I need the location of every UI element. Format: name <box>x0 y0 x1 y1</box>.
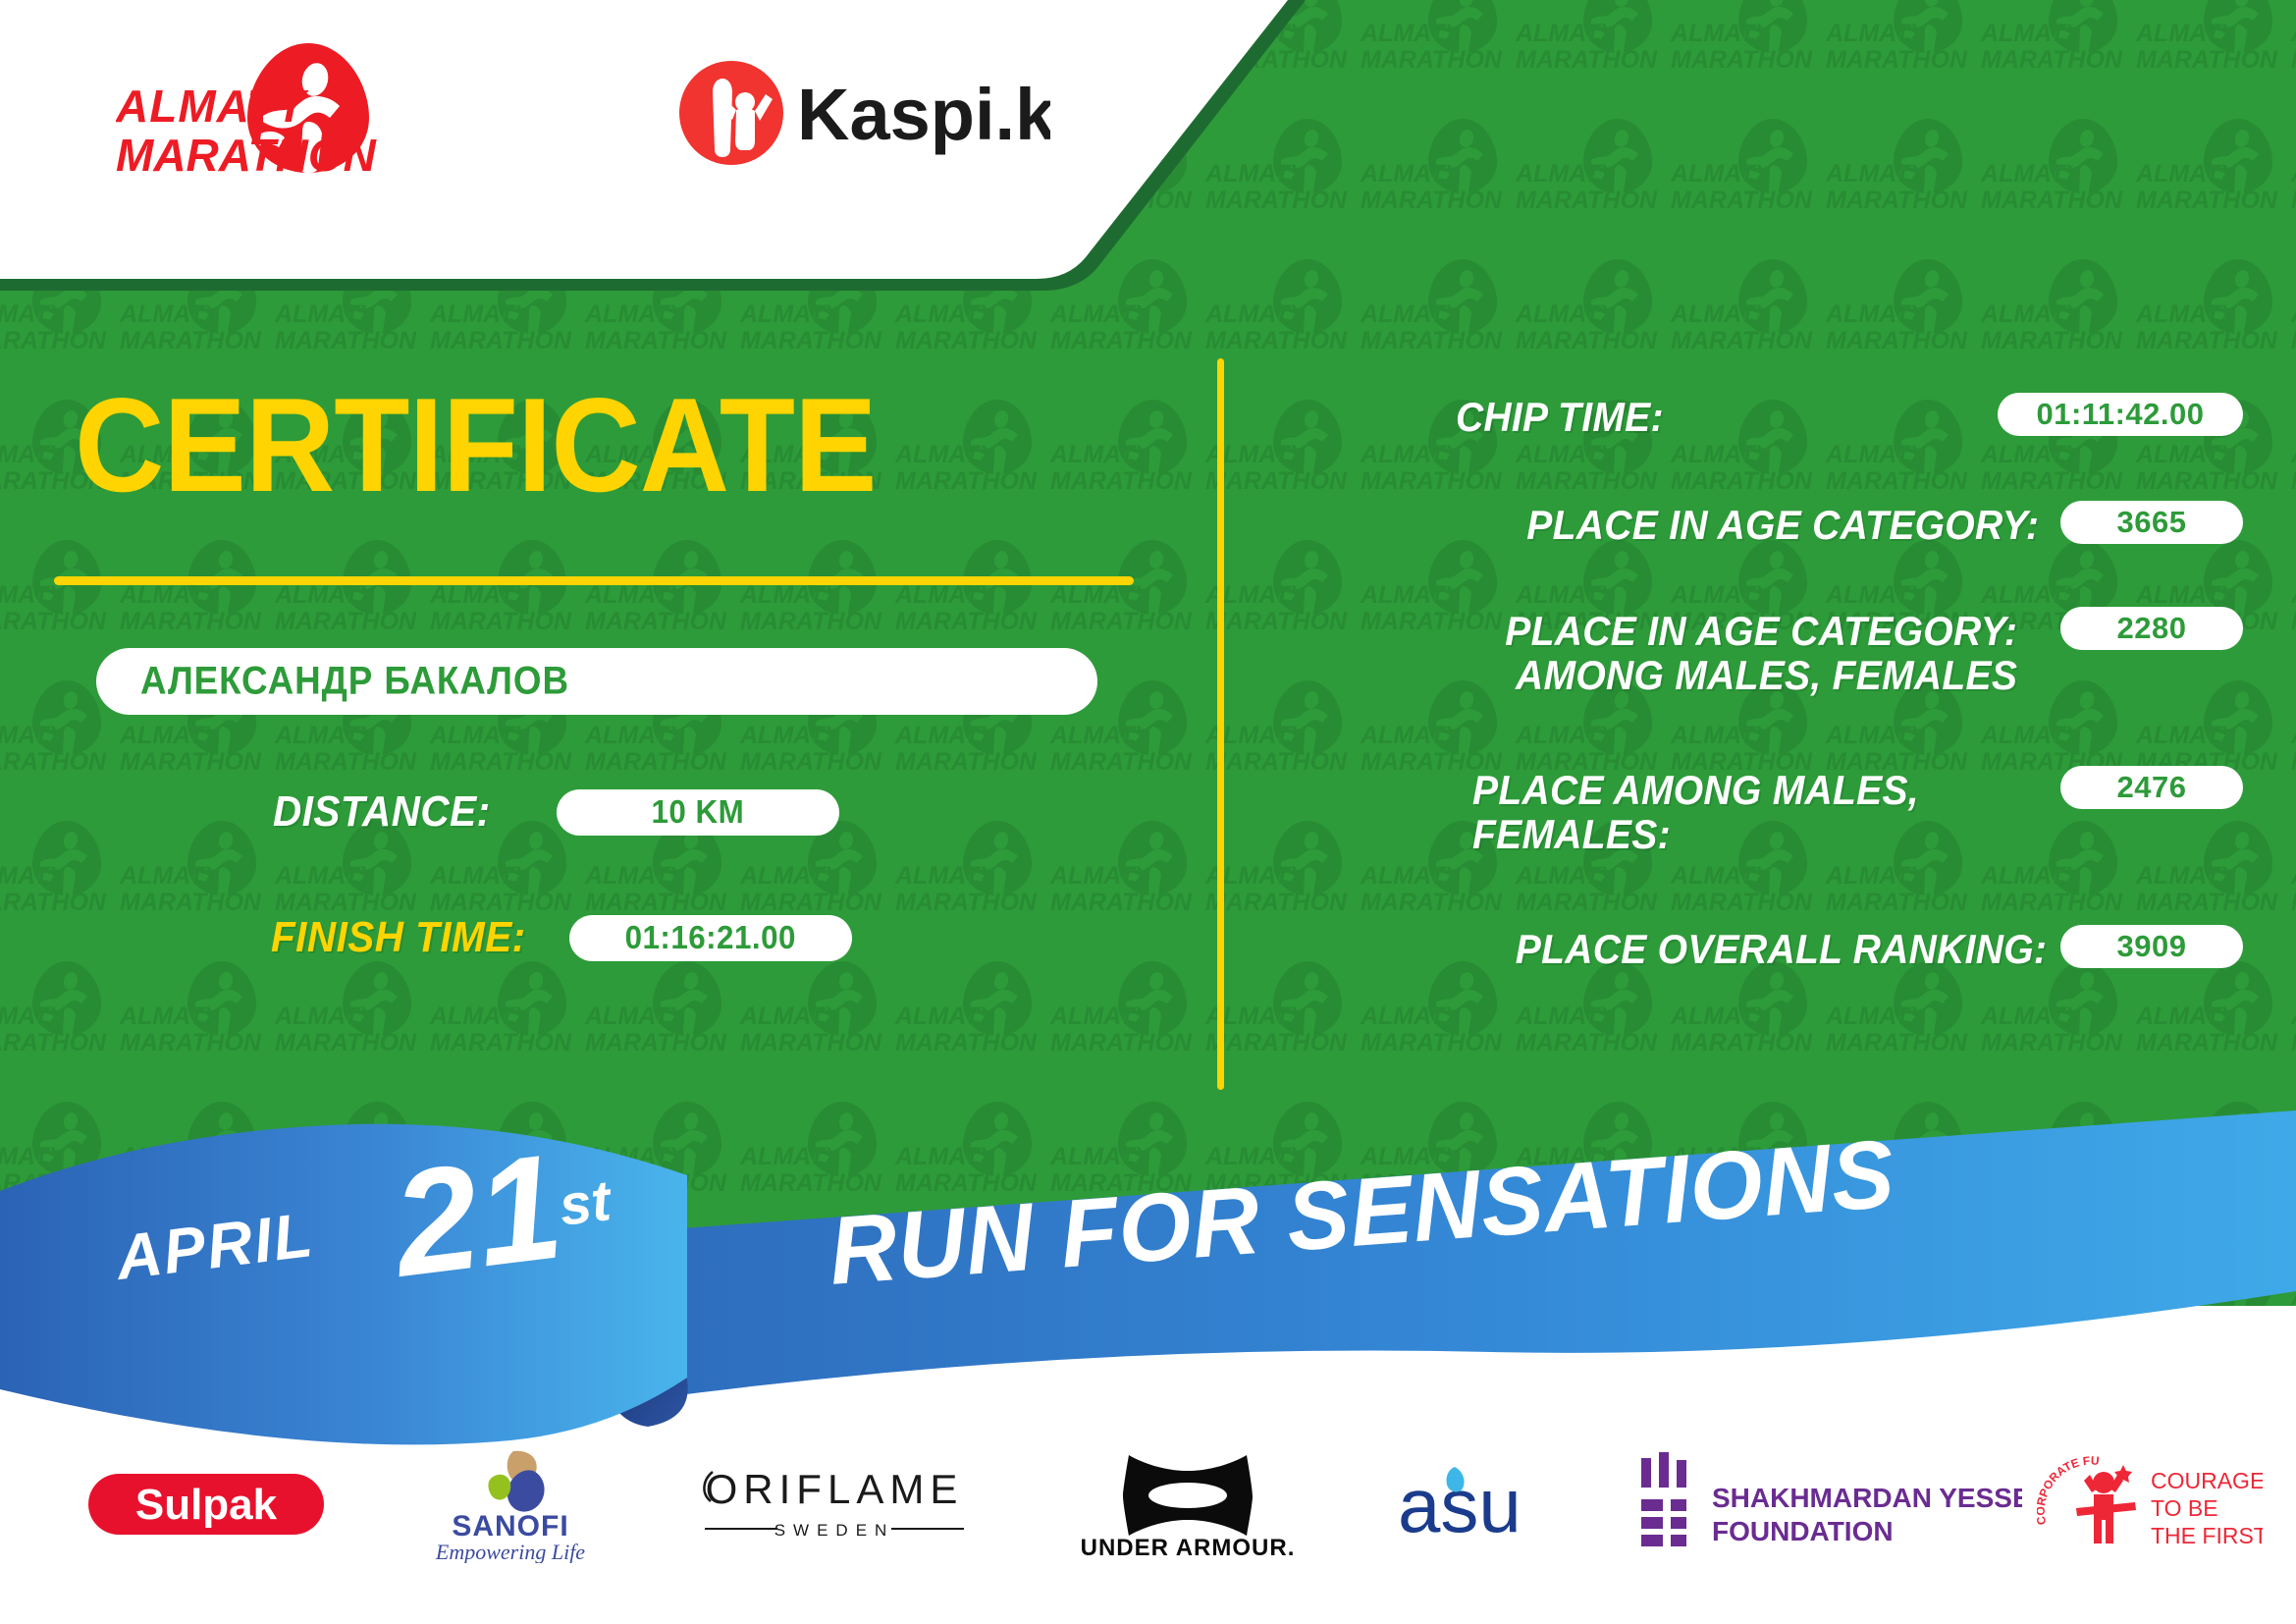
place-age-category-gender-value: 2280 <box>2117 611 2187 646</box>
svg-text:ALMATY: ALMATY <box>584 1002 688 1030</box>
svg-text:ALMATY: ALMATY <box>1670 300 1774 328</box>
svg-text:ALMATY: ALMATY <box>1049 1002 1153 1030</box>
svg-text:ALMATY: ALMATY <box>0 300 68 328</box>
sponsor-sulpak: Sulpak <box>69 1426 344 1583</box>
watermark-tile: ALMATYMARATHON <box>2287 532 2296 673</box>
svg-text:MARATHON: MARATHON <box>1050 889 1193 916</box>
sponsor-sulpak-wordmark: Sulpak <box>135 1481 278 1529</box>
svg-text:ALMATY: ALMATY <box>1360 300 1464 328</box>
svg-text:ALMATY: ALMATY <box>429 581 533 609</box>
svg-text:ALMATY: ALMATY <box>2290 862 2296 890</box>
svg-text:ALMATY: ALMATY <box>274 1002 378 1030</box>
svg-text:ALMATY: ALMATY <box>119 862 223 890</box>
svg-text:ALMATY: ALMATY <box>1515 300 1619 328</box>
svg-text:MARATHON: MARATHON <box>585 889 727 916</box>
svg-text:MARATHON: MARATHON <box>2291 608 2296 635</box>
svg-text:MARATHON: MARATHON <box>1981 327 2123 354</box>
svg-text:ALMATY: ALMATY <box>0 1002 68 1030</box>
sponsor-under-armour: UNDER ARMOUR. <box>1041 1426 1335 1583</box>
sponsor-yessenov-foundation: SHAKHMARDAN YESSENOV FOUNDATION <box>1629 1426 2022 1583</box>
svg-text:ALMATY: ALMATY <box>894 300 998 328</box>
svg-text:ALMATY: ALMATY <box>429 300 533 328</box>
svg-text:ALMATY: ALMATY <box>2290 20 2296 47</box>
svg-text:ALMATY: ALMATY <box>739 581 843 609</box>
svg-text:MARATHON: MARATHON <box>740 1029 882 1056</box>
watermark-tile: ALMATYMARATHON <box>1977 0 2132 111</box>
svg-text:MARATHON: MARATHON <box>2291 327 2296 354</box>
svg-text:MARATHON: MARATHON <box>740 327 882 354</box>
yessenov-bars-icon <box>1641 1452 1686 1546</box>
svg-text:MARATHON: MARATHON <box>430 327 572 354</box>
watermark-tile: ALMATYMARATHON <box>1822 111 1977 251</box>
svg-text:ALMATY: ALMATY <box>429 1002 533 1030</box>
svg-text:MARATHON: MARATHON <box>120 608 262 635</box>
sponsor-sanofi-wordmark: SANOFI <box>452 1510 568 1543</box>
svg-text:MARATHON: MARATHON <box>1050 608 1193 635</box>
chip-time-label: CHIP TIME: <box>1456 395 1664 439</box>
svg-text:MARATHON: MARATHON <box>2291 748 2296 776</box>
svg-text:ALMATY: ALMATY <box>739 722 843 749</box>
svg-text:ALMATY: ALMATY <box>2290 722 2296 749</box>
place-overall-value-field: 3909 <box>2060 925 2243 968</box>
svg-text:ALMATY: ALMATY <box>2135 20 2239 47</box>
svg-text:MARATHON: MARATHON <box>120 327 262 354</box>
sponsor-courage-to-be-the-first: CORPORATE FUND COURAGE TO BE THE FIRST! <box>2037 1426 2282 1583</box>
svg-text:ALMATY: ALMATY <box>2135 300 2239 328</box>
svg-text:MARATHON: MARATHON <box>430 608 572 635</box>
finish-time-value: 01:16:21.00 <box>625 919 796 956</box>
svg-text:MARATHON: MARATHON <box>0 608 107 635</box>
svg-text:ALMATY: ALMATY <box>429 862 533 890</box>
stat-row-place-among-gender: PLACE AMONG MALES, FEMALES: 2476 <box>1232 766 2243 857</box>
sponsor-sanofi-tagline: Empowering Life <box>435 1540 585 1563</box>
svg-text:MARATHON: MARATHON <box>1981 187 2123 214</box>
distance-value: 10 KM <box>651 793 744 831</box>
svg-text:MARATHON: MARATHON <box>1671 187 1813 214</box>
svg-text:MARATHON: MARATHON <box>2291 187 2296 214</box>
place-age-category-gender-label-line2: AMONG MALES, FEMALES <box>1505 653 2017 697</box>
chip-time-value-field: 01:11:42.00 <box>1998 393 2243 436</box>
under-armour-mark-icon <box>1123 1455 1253 1536</box>
event-day: 21 <box>386 1131 568 1299</box>
svg-text:MARATHON: MARATHON <box>1981 46 2123 74</box>
svg-text:ALMATY: ALMATY <box>119 300 223 328</box>
svg-text:MARATHON: MARATHON <box>895 467 1038 495</box>
courage-runner-icon <box>2076 1465 2136 1543</box>
svg-text:MARATHON: MARATHON <box>740 608 882 635</box>
svg-text:MARATHON: MARATHON <box>1050 467 1193 495</box>
svg-text:ALMATY: ALMATY <box>894 722 998 749</box>
svg-text:MARATHON: MARATHON <box>275 327 417 354</box>
svg-text:ALMATY: ALMATY <box>1670 160 1774 188</box>
svg-text:ALMATY: ALMATY <box>2290 300 2296 328</box>
place-age-category-gender-label: PLACE IN AGE CATEGORY: AMONG MALES, FEMA… <box>1505 609 2017 698</box>
distance-value-field: 10 KM <box>557 789 839 836</box>
finish-time-label: FINISH TIME: <box>271 913 526 962</box>
place-overall-value: 3909 <box>2117 929 2187 964</box>
sponsors-bar: Sulpak SANOFI Empowering Life ORIFLAME S <box>0 1426 2296 1593</box>
watermark-tile: ALMATYMARATHON <box>1512 111 1667 251</box>
svg-text:ALMATY: ALMATY <box>1980 160 2084 188</box>
svg-text:MARATHON: MARATHON <box>740 748 882 776</box>
chip-time-value: 01:11:42.00 <box>2037 397 2205 432</box>
svg-text:MARATHON: MARATHON <box>430 1029 572 1056</box>
svg-text:MARATHON: MARATHON <box>1826 187 1968 214</box>
svg-text:MARATHON: MARATHON <box>2291 889 2296 916</box>
svg-text:ALMATY: ALMATY <box>119 722 223 749</box>
svg-text:ALMATY: ALMATY <box>739 862 843 890</box>
sponsor-courage-line2: TO BE <box>2151 1495 2218 1521</box>
svg-text:ALMATY: ALMATY <box>2290 441 2296 468</box>
sponsor-yessenov-line1: SHAKHMARDAN YESSENOV <box>1712 1483 2022 1513</box>
watermark-tile: ALMATYMARATHON <box>1046 392 1201 532</box>
place-among-gender-label-line1: PLACE AMONG MALES, <box>1472 768 1919 812</box>
svg-text:MARATHON: MARATHON <box>2291 467 2296 495</box>
svg-text:ALMATY: ALMATY <box>119 1002 223 1030</box>
watermark-tile: ALMATYMARATHON <box>1977 111 2132 251</box>
watermark-tile: ALMATYMARATHON <box>2287 251 2296 392</box>
svg-text:MARATHON: MARATHON <box>1516 327 1658 354</box>
svg-text:MARATHON: MARATHON <box>585 608 727 635</box>
watermark-tile: ALMATYMARATHON <box>1822 251 1977 392</box>
event-month: APRIL <box>112 1198 318 1294</box>
svg-text:ALMATY: ALMATY <box>0 441 68 468</box>
watermark-tile: ALMATYMARATHON <box>1822 0 1977 111</box>
watermark-tile: ALMATYMARATHON <box>2287 0 2296 111</box>
svg-text:MARATHON: MARATHON <box>1671 46 1813 74</box>
svg-text:ALMATY: ALMATY <box>1204 300 1308 328</box>
watermark-tile: ALMATYMARATHON <box>1977 251 2132 392</box>
svg-text:MARATHON: MARATHON <box>1516 187 1658 214</box>
sponsor-oriflame-wordmark: ORIFLAME <box>706 1466 964 1512</box>
sponsor-yessenov-line2: FOUNDATION <box>1712 1516 1894 1546</box>
svg-text:MARATHON: MARATHON <box>275 889 417 916</box>
svg-text:ALMATY: ALMATY <box>2290 160 2296 188</box>
svg-text:MARATHON: MARATHON <box>585 748 727 776</box>
svg-text:ALMATY: ALMATY <box>0 581 68 609</box>
svg-text:MARATHON: MARATHON <box>2291 1029 2296 1056</box>
sponsor-oriflame-tagline: SWEDEN <box>774 1521 895 1540</box>
watermark-tile: ALMATYMARATHON <box>1512 251 1667 392</box>
svg-text:ALMATY: ALMATY <box>584 300 688 328</box>
place-age-category-gender-value-field: 2280 <box>2060 607 2243 650</box>
watermark-tile: ALMATYMARATHON <box>2132 0 2287 111</box>
header-panel: ALMATY MARATHON Kaspi.kz <box>0 0 1531 295</box>
event-date: APRIL 21 st <box>116 1149 666 1306</box>
kaspi-wordmark: Kaspi.kz <box>797 74 1050 155</box>
svg-text:MARATHON: MARATHON <box>895 748 1038 776</box>
sanofi-mark-icon <box>488 1451 544 1512</box>
place-age-category-value-field: 3665 <box>2060 501 2243 544</box>
participant-name: АЛЕКСАНДР БАКАЛОВ <box>140 660 569 704</box>
svg-text:MARATHON: MARATHON <box>0 748 107 776</box>
svg-text:MARATHON: MARATHON <box>1050 1029 1193 1056</box>
svg-text:ALMATY: ALMATY <box>1049 722 1153 749</box>
svg-text:ALMATY: ALMATY <box>584 581 688 609</box>
svg-text:MARATHON: MARATHON <box>585 1029 727 1056</box>
place-age-category-value: 3665 <box>2117 505 2187 540</box>
sponsor-asu: asu <box>1364 1426 1610 1583</box>
svg-text:MARATHON: MARATHON <box>275 608 417 635</box>
distance-row: DISTANCE: 10 KM <box>273 787 839 837</box>
distance-label: DISTANCE: <box>273 787 491 837</box>
watermark-tile: ALMATYMARATHON <box>1667 0 1822 111</box>
event-day-suffix: st <box>556 1167 614 1239</box>
svg-text:MARATHON: MARATHON <box>430 748 572 776</box>
svg-text:MARATHON: MARATHON <box>120 748 262 776</box>
svg-text:ALMATY: ALMATY <box>894 441 998 468</box>
svg-text:ALMATY: ALMATY <box>274 722 378 749</box>
page-title: CERTIFICATE <box>75 378 877 512</box>
watermark-tile: ALMATYMARATHON <box>2132 251 2287 392</box>
svg-text:ALMATY: ALMATY <box>274 581 378 609</box>
kaspi-logo: Kaspi.kz <box>677 59 1050 167</box>
svg-text:ALMATY: ALMATY <box>1049 581 1153 609</box>
svg-text:ALMATY: ALMATY <box>274 862 378 890</box>
watermark-tile: ALMATYMARATHON <box>891 392 1046 532</box>
svg-text:MARATHON: MARATHON <box>275 1029 417 1056</box>
watermark-tile: ALMATYMARATHON <box>2287 111 2296 251</box>
stat-row-chip-time: CHIP TIME: 01:11:42.00 <box>1232 393 2243 439</box>
place-overall-label: PLACE OVERALL RANKING: <box>1516 927 2047 971</box>
place-among-gender-value-field: 2476 <box>2060 766 2243 809</box>
svg-text:MARATHON: MARATHON <box>2136 327 2278 354</box>
svg-text:ALMATY: ALMATY <box>116 81 310 132</box>
svg-text:ALMATY: ALMATY <box>1980 20 2084 47</box>
sponsor-sanofi: SANOFI Empowering Life <box>373 1426 648 1583</box>
svg-text:ALMATY: ALMATY <box>1825 20 1929 47</box>
sponsor-oriflame: ORIFLAME SWEDEN <box>677 1426 991 1583</box>
svg-text:MARATHON: MARATHON <box>2136 187 2278 214</box>
svg-text:ALMATY: ALMATY <box>739 300 843 328</box>
svg-text:MARATHON: MARATHON <box>1050 327 1193 354</box>
svg-text:MARATHON: MARATHON <box>0 327 107 354</box>
place-among-gender-value: 2476 <box>2117 770 2187 805</box>
svg-text:MARATHON: MARATHON <box>120 889 262 916</box>
svg-text:MARATHON: MARATHON <box>0 1029 107 1056</box>
place-age-category-gender-label-line1: PLACE IN AGE CATEGORY: <box>1505 609 2017 653</box>
svg-text:ALMATY: ALMATY <box>1049 300 1153 328</box>
sponsor-courage-line1: COURAGE <box>2151 1468 2263 1493</box>
watermark-tile: ALMATYMARATHON <box>1046 813 1201 953</box>
kaspi-people-circle-icon <box>679 61 783 165</box>
svg-text:ALMATY: ALMATY <box>894 862 998 890</box>
svg-text:MARATHON: MARATHON <box>895 889 1038 916</box>
svg-text:ALMATY: ALMATY <box>274 300 378 328</box>
svg-text:MARATHON: MARATHON <box>740 889 882 916</box>
stats-panel: CHIP TIME: 01:11:42.00 PLACE IN AGE CATE… <box>1232 373 2243 1100</box>
watermark-tile: ALMATYMARATHON <box>2287 392 2296 532</box>
svg-text:ALMATY: ALMATY <box>2290 1002 2296 1030</box>
svg-text:ALMATY: ALMATY <box>1980 300 2084 328</box>
watermark-tile: ALMATYMARATHON <box>2132 111 2287 251</box>
svg-text:ALMATY: ALMATY <box>739 1002 843 1030</box>
finish-time-value-field: 01:16:21.00 <box>569 915 852 961</box>
svg-text:MARATHON: MARATHON <box>1205 327 1348 354</box>
watermark-tile: ALMATYMARATHON <box>1667 251 1822 392</box>
place-among-gender-label: PLACE AMONG MALES, FEMALES: <box>1472 768 1919 857</box>
svg-text:ALMATY: ALMATY <box>1670 20 1774 47</box>
section-divider <box>1217 358 1224 1090</box>
watermark-tile: ALMATYMARATHON <box>0 532 116 673</box>
svg-text:ALMATY: ALMATY <box>1825 160 1929 188</box>
watermark-tile: ALMATYMARATHON <box>1667 111 1822 251</box>
svg-text:MARATHON: MARATHON <box>430 889 572 916</box>
svg-text:ALMATY: ALMATY <box>2135 160 2239 188</box>
svg-text:MARATHON: MARATHON <box>1826 327 1968 354</box>
svg-text:ALMATY: ALMATY <box>894 581 998 609</box>
finish-time-row: FINISH TIME: 01:16:21.00 <box>271 913 852 962</box>
svg-text:ALMATY: ALMATY <box>584 722 688 749</box>
svg-text:ALMATY: ALMATY <box>2290 581 2296 609</box>
svg-text:ALMATY: ALMATY <box>429 722 533 749</box>
svg-text:MARATHON: MARATHON <box>585 327 727 354</box>
svg-text:ALMATY: ALMATY <box>0 862 68 890</box>
watermark-tile: ALMATYMARATHON <box>2287 673 2296 813</box>
participant-name-field: АЛЕКСАНДР БАКАЛОВ <box>96 648 1097 715</box>
svg-text:ALMATY: ALMATY <box>584 862 688 890</box>
svg-text:MARATHON: MARATHON <box>1361 327 1503 354</box>
svg-text:MARATHON: MARATHON <box>1050 748 1193 776</box>
svg-text:MARATHON: MARATHON <box>2291 46 2296 74</box>
svg-text:MARATHON: MARATHON <box>895 1029 1038 1056</box>
svg-text:ALMATY: ALMATY <box>0 722 68 749</box>
svg-text:ALMATY: ALMATY <box>1049 441 1153 468</box>
watermark-tile: ALMATYMARATHON <box>116 813 271 953</box>
svg-text:MARATHON: MARATHON <box>1671 327 1813 354</box>
watermark-tile: ALMATYMARATHON <box>0 813 116 953</box>
watermark-tile: ALMATYMARATHON <box>891 813 1046 953</box>
almaty-marathon-logo: ALMATY MARATHON <box>116 39 420 182</box>
svg-text:MARATHON: MARATHON <box>275 748 417 776</box>
svg-text:ALMATY: ALMATY <box>894 1002 998 1030</box>
svg-text:MARATHON: MARATHON <box>0 889 107 916</box>
watermark-tile: ALMATYMARATHON <box>1512 0 1667 111</box>
svg-text:MARATHON: MARATHON <box>120 1029 262 1056</box>
place-age-category-label: PLACE IN AGE CATEGORY: <box>1526 503 2039 547</box>
certificate-page: ALMATYMARATHONALMATYMARATHONALMATYMARATH… <box>0 0 2296 1624</box>
title-divider <box>54 576 1134 585</box>
stat-row-place-overall: PLACE OVERALL RANKING: 3909 <box>1232 925 2243 971</box>
svg-text:MARATHON: MARATHON <box>1516 46 1658 74</box>
svg-text:ALMATY: ALMATY <box>119 581 223 609</box>
svg-text:ALMATY: ALMATY <box>1825 300 1929 328</box>
svg-text:MARATHON: MARATHON <box>2136 46 2278 74</box>
watermark-tile: ALMATYMARATHON <box>2287 813 2296 953</box>
sponsor-under-armour-wordmark: UNDER ARMOUR. <box>1081 1535 1296 1561</box>
svg-text:ALMATY: ALMATY <box>1049 862 1153 890</box>
sponsor-courage-line3: THE FIRST! <box>2151 1523 2263 1548</box>
stat-row-place-age-category-gender: PLACE IN AGE CATEGORY: AMONG MALES, FEMA… <box>1232 607 2243 698</box>
svg-text:MARATHON: MARATHON <box>895 327 1038 354</box>
stat-row-place-age-category: PLACE IN AGE CATEGORY: 3665 <box>1232 501 2243 547</box>
svg-text:MARATHON: MARATHON <box>895 608 1038 635</box>
svg-text:MARATHON: MARATHON <box>1826 46 1968 74</box>
svg-text:MARATHON: MARATHON <box>116 130 377 181</box>
place-among-gender-label-line2: FEMALES: <box>1472 812 1919 856</box>
